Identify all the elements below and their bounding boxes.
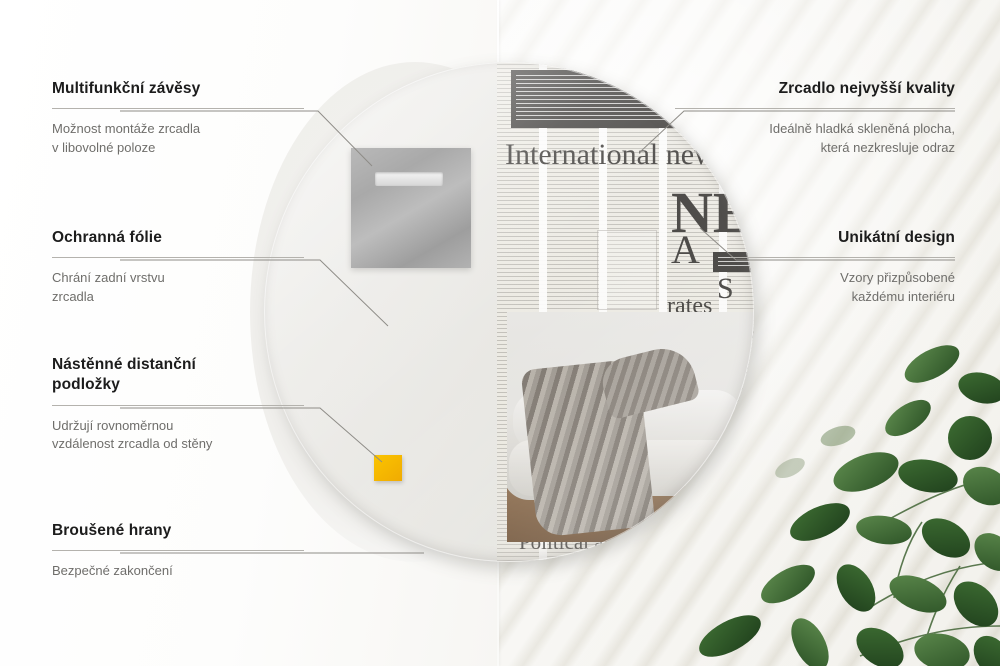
callout-description: Udržují rovnoměrnou vzdálenost zrcadla o…: [52, 417, 304, 454]
callout-description: Ideálně hladká skleněná plocha, která ne…: [675, 120, 955, 157]
callout-description: Vzory přizpůsobené každému interiéru: [730, 269, 955, 306]
callout-rule: [675, 108, 955, 109]
callout-description: Možnost montáže zrcadla v libovolné polo…: [52, 120, 304, 157]
callout-title: Multifunkční závěsy: [52, 79, 304, 99]
callout-unique-design: Unikátní design Vzory přizpůsobené každé…: [730, 228, 955, 306]
callout-rule: [52, 550, 304, 551]
mirror-room-reflection: [507, 312, 754, 542]
callout-ground-edges: Broušené hrany Bezpečné zakončení: [52, 521, 304, 581]
wall-spacer-pad-part[interactable]: [374, 455, 402, 481]
callout-description: Chrání zadní vrstvu zrcadla: [52, 269, 304, 306]
callout-rule: [52, 405, 304, 406]
callout-title: Nástěnné distanční podložky: [52, 355, 304, 396]
mounting-bracket-part[interactable]: [351, 148, 471, 268]
callout-rule: [52, 108, 304, 109]
callout-title: Ochranná fólie: [52, 228, 304, 248]
callout-description: Bezpečné zakončení: [52, 562, 304, 580]
callout-title: Broušené hrany: [52, 521, 304, 541]
callout-multifunctional-hangers: Multifunkční závěsy Možnost montáže zrca…: [52, 79, 304, 157]
callout-title: Zrcadlo nejvyšší kvality: [675, 79, 955, 99]
callout-rule: [730, 257, 955, 258]
callout-wall-spacers: Nástěnné distanční podložky Udržují rovn…: [52, 355, 304, 454]
callout-protective-foil: Ochranná fólie Chrání zadní vrstvu zrcad…: [52, 228, 304, 306]
callout-rule: [52, 257, 304, 258]
bracket-slot: [375, 172, 443, 186]
callout-highest-quality-mirror: Zrcadlo nejvyšší kvality Ideálně hladká …: [675, 79, 955, 157]
callout-title: Unikátní design: [730, 228, 955, 248]
infographic-canvas: International news NE A rates S Bus Mark…: [0, 0, 1000, 666]
